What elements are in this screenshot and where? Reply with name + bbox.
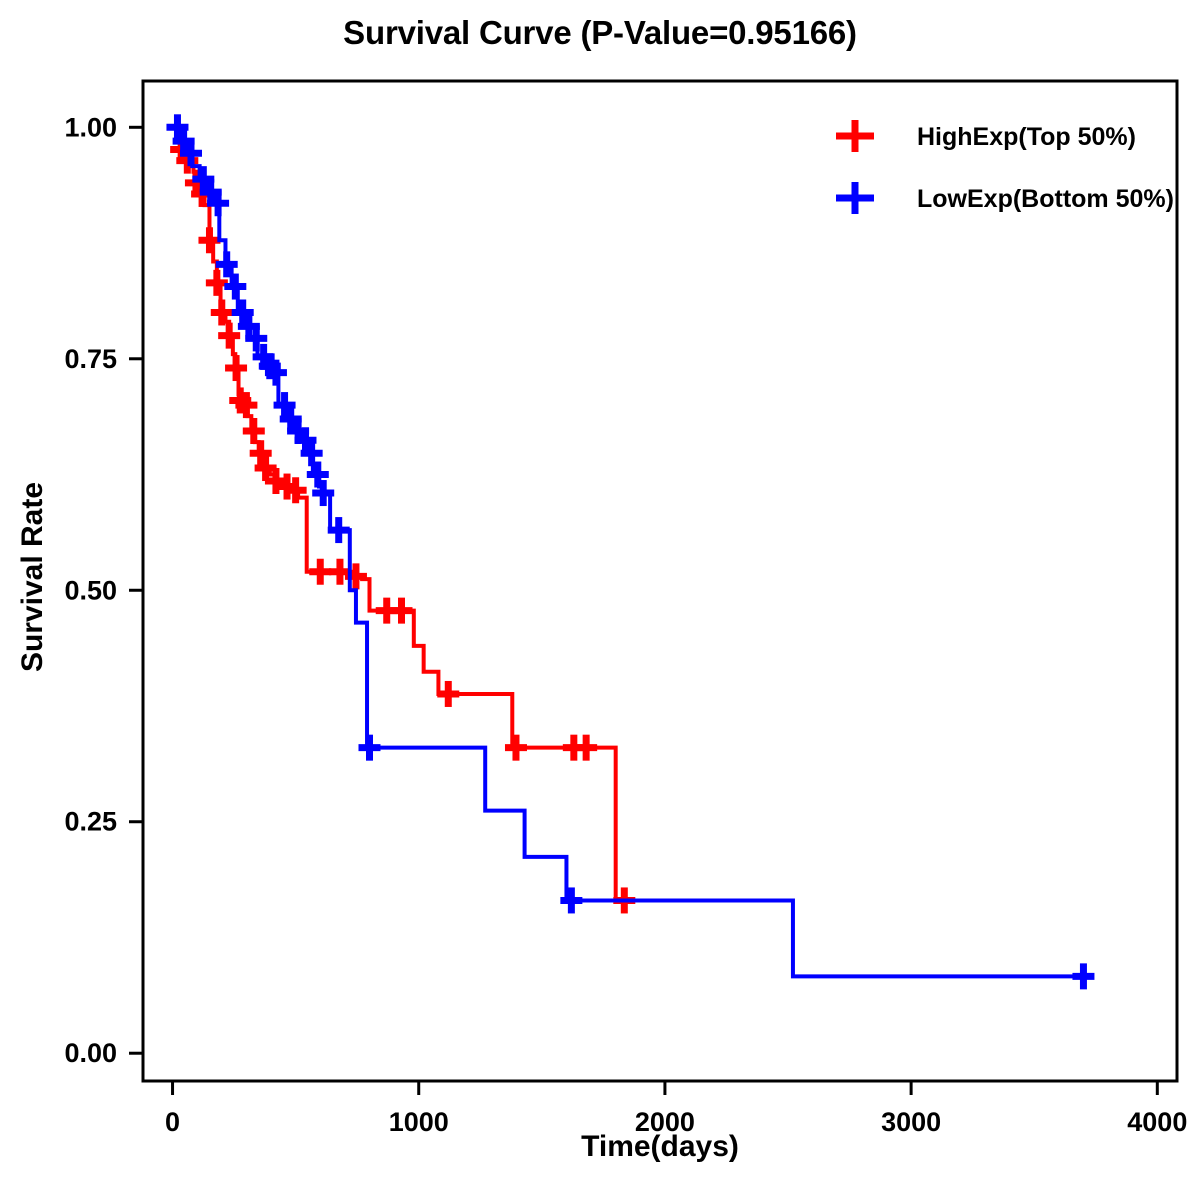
- x-tick-label: 4000: [1127, 1107, 1187, 1137]
- censor-plus-marker: [505, 735, 527, 761]
- censor-plus-marker: [329, 559, 351, 585]
- censor-plus-marker: [309, 559, 331, 585]
- censor-plus-marker: [218, 323, 240, 349]
- censor-plus-marker: [391, 598, 413, 624]
- legend-label: HighExp(Top 50%): [917, 123, 1136, 151]
- censor-plus-marker: [358, 735, 380, 761]
- chart-legend: HighExp(Top 50%)LowExp(Bottom 50%): [836, 120, 1174, 214]
- y-axis-ticks: 0.000.250.500.751.00: [64, 112, 143, 1068]
- legend-entry[interactable]: LowExp(Bottom 50%): [836, 182, 1174, 214]
- censor-plus-marker: [243, 418, 265, 444]
- censor-plus-marker: [437, 681, 459, 707]
- censor-plus-marker: [198, 227, 220, 253]
- plot-frame: [143, 81, 1177, 1081]
- y-tick-label: 0.50: [64, 575, 117, 605]
- censor-plus-marker: [560, 887, 582, 913]
- legend-entry[interactable]: HighExp(Top 50%): [836, 120, 1136, 152]
- x-tick-label: 0: [165, 1107, 180, 1137]
- x-axis-ticks: 01000200030004000: [165, 1081, 1187, 1137]
- censor-plus-marker: [1072, 963, 1094, 989]
- legend-plus-marker: [836, 182, 874, 214]
- x-tick-label: 1000: [389, 1107, 449, 1137]
- x-tick-label: 2000: [635, 1107, 695, 1137]
- survival-curve-figure: Survival Curve (P-Value=0.95166) Surviva…: [0, 0, 1200, 1200]
- plot-canvas: 01000200030004000 0.000.250.500.751.00 H…: [0, 0, 1200, 1200]
- x-tick-label: 3000: [881, 1107, 941, 1137]
- step-line: [173, 127, 1089, 976]
- legend-plus-marker: [836, 120, 874, 152]
- step-line: [173, 127, 636, 900]
- censor-plus-marker: [224, 274, 246, 300]
- series-high-exp: [170, 127, 635, 913]
- censor-plus-marker: [225, 355, 247, 381]
- data-series-layer: [166, 114, 1094, 989]
- censor-plus-marker: [575, 735, 597, 761]
- y-tick-label: 0.25: [64, 807, 117, 837]
- y-tick-label: 1.00: [64, 112, 117, 142]
- legend-label: LowExp(Bottom 50%): [917, 185, 1174, 213]
- y-tick-label: 0.00: [64, 1038, 117, 1068]
- y-tick-label: 0.75: [64, 344, 117, 374]
